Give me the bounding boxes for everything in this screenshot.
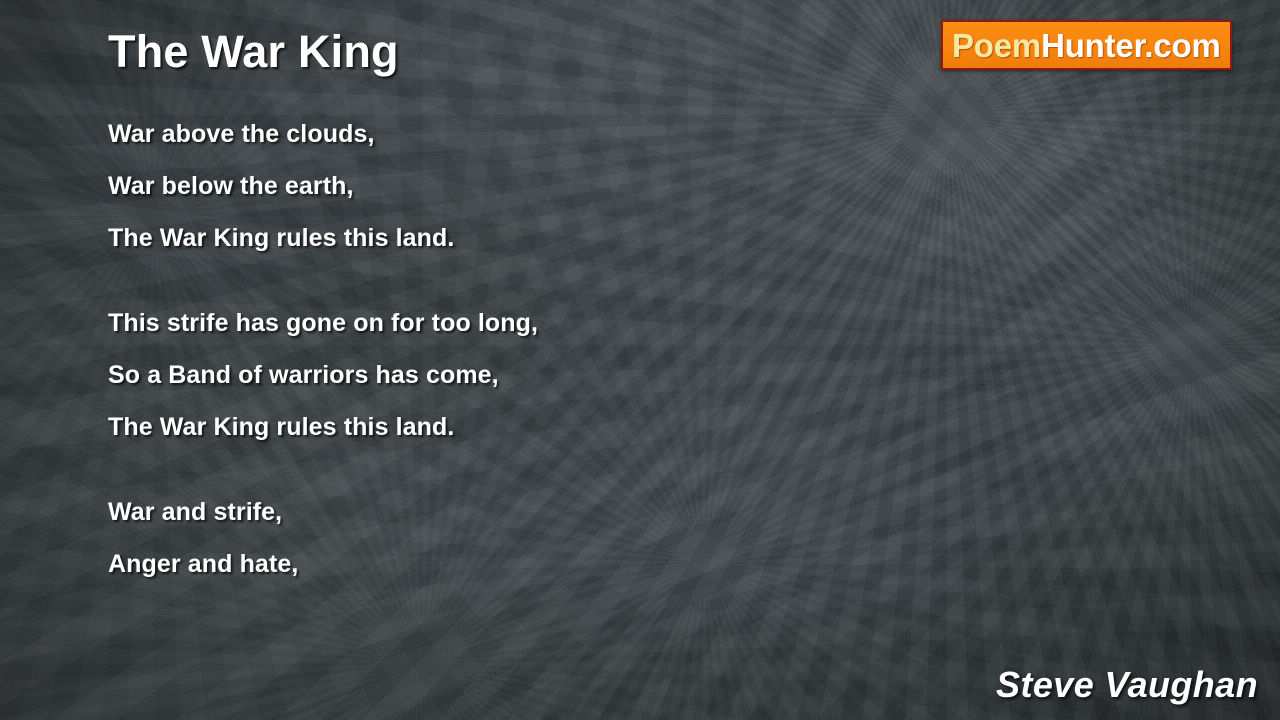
- poem-line: War below the earth,: [108, 160, 908, 212]
- site-logo-text: PoemHunter.com: [952, 29, 1221, 62]
- poem-image-slide: The War King War above the clouds,War be…: [0, 0, 1280, 720]
- site-logo-text-poem: Poem: [952, 27, 1041, 64]
- poem-line: The War King rules this land.: [108, 212, 908, 264]
- poem-title: The War King: [108, 26, 399, 78]
- poem-stanza: War and strife,Anger and hate,: [108, 486, 908, 590]
- poem-line: So a Band of warriors has come,: [108, 349, 908, 401]
- site-logo-text-hunter: Hunter.com: [1041, 27, 1221, 64]
- poem-line: War and strife,: [108, 486, 908, 538]
- slide-content: The War King War above the clouds,War be…: [0, 0, 1280, 720]
- poem-author: Steve Vaughan: [996, 664, 1258, 706]
- poem-body: War above the clouds,War below the earth…: [108, 108, 908, 623]
- site-logo-badge[interactable]: PoemHunter.com: [941, 20, 1232, 70]
- poem-line: War above the clouds,: [108, 108, 908, 160]
- poem-stanza: War above the clouds,War below the earth…: [108, 108, 908, 264]
- poem-line: This strife has gone on for too long,: [108, 297, 908, 349]
- poem-line: The War King rules this land.: [108, 401, 908, 453]
- poem-line: Anger and hate,: [108, 538, 908, 590]
- poem-stanza: This strife has gone on for too long,So …: [108, 297, 908, 453]
